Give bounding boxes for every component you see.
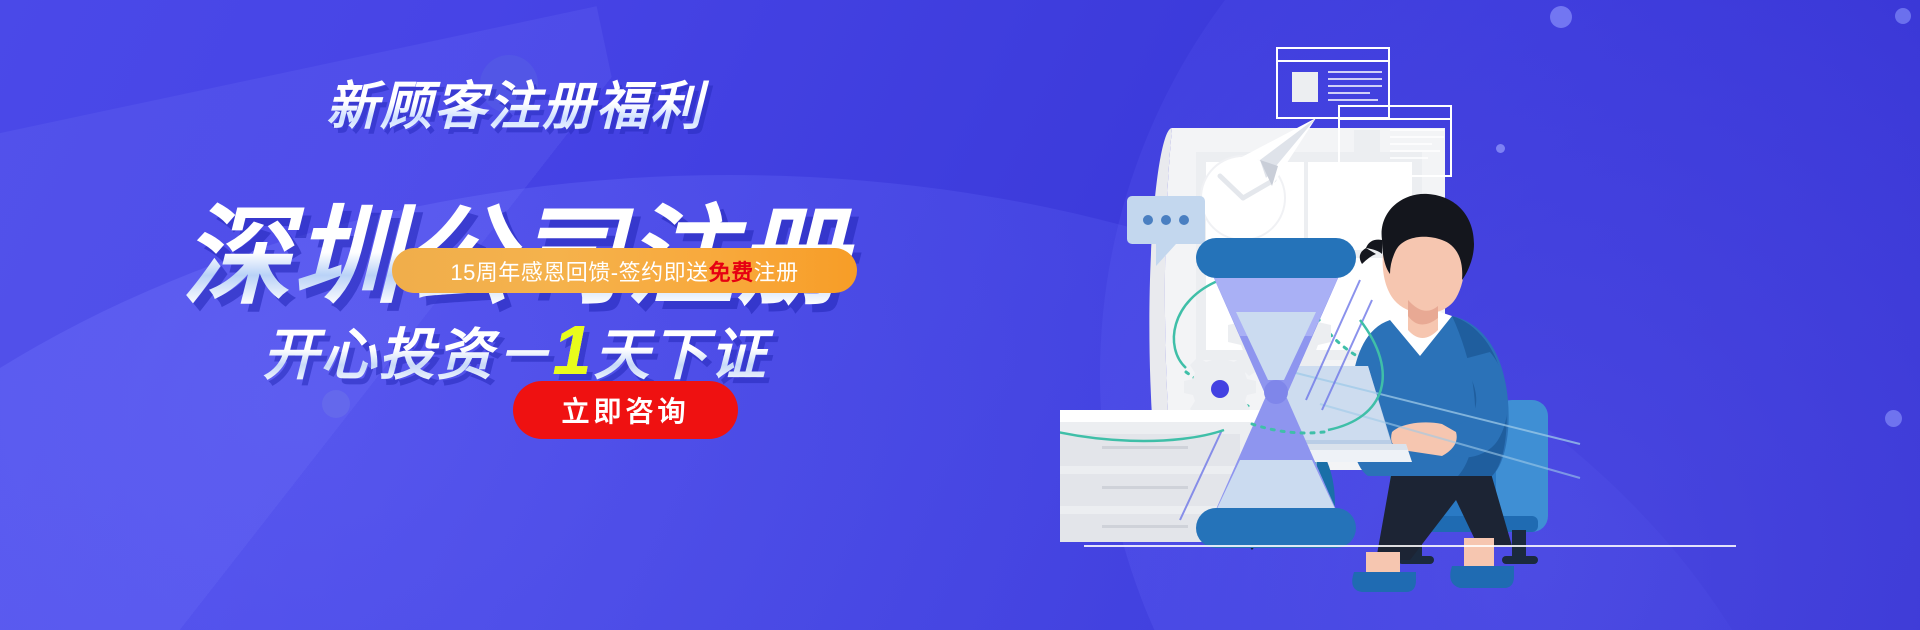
promo-banner: 新顾客注册福利 深圳公司注册 15周年感恩回馈-签约即送免费注册 开心投资－1天… <box>0 0 1920 630</box>
promo-badge-suffix: 注册 <box>754 255 799 287</box>
tagline-before: 开心投资－ <box>263 323 553 386</box>
promo-badge-highlight: 免费 <box>709 255 754 287</box>
promo-badge: 15周年感恩回馈-签约即送免费注册 <box>392 248 857 293</box>
floor-line <box>1084 545 1736 547</box>
tagline-after: 天下证 <box>593 323 767 386</box>
consult-now-button[interactable]: 立即咨询 <box>513 381 738 439</box>
promo-badge-prefix: 15周年感恩回馈-签约即送 <box>450 255 708 287</box>
banner-eyebrow: 新顾客注册福利 <box>0 64 1030 139</box>
banner-tagline: 开心投资－1天下证 <box>0 310 1030 391</box>
banner-copy: 新顾客注册福利 深圳公司注册 15周年感恩回馈-签约即送免费注册 开心投资－1天… <box>0 0 1030 630</box>
tagline-number: 1 <box>553 311 594 389</box>
illustration <box>1060 0 1920 630</box>
document-thumb <box>1354 130 1380 160</box>
document-thumb <box>1292 72 1318 102</box>
